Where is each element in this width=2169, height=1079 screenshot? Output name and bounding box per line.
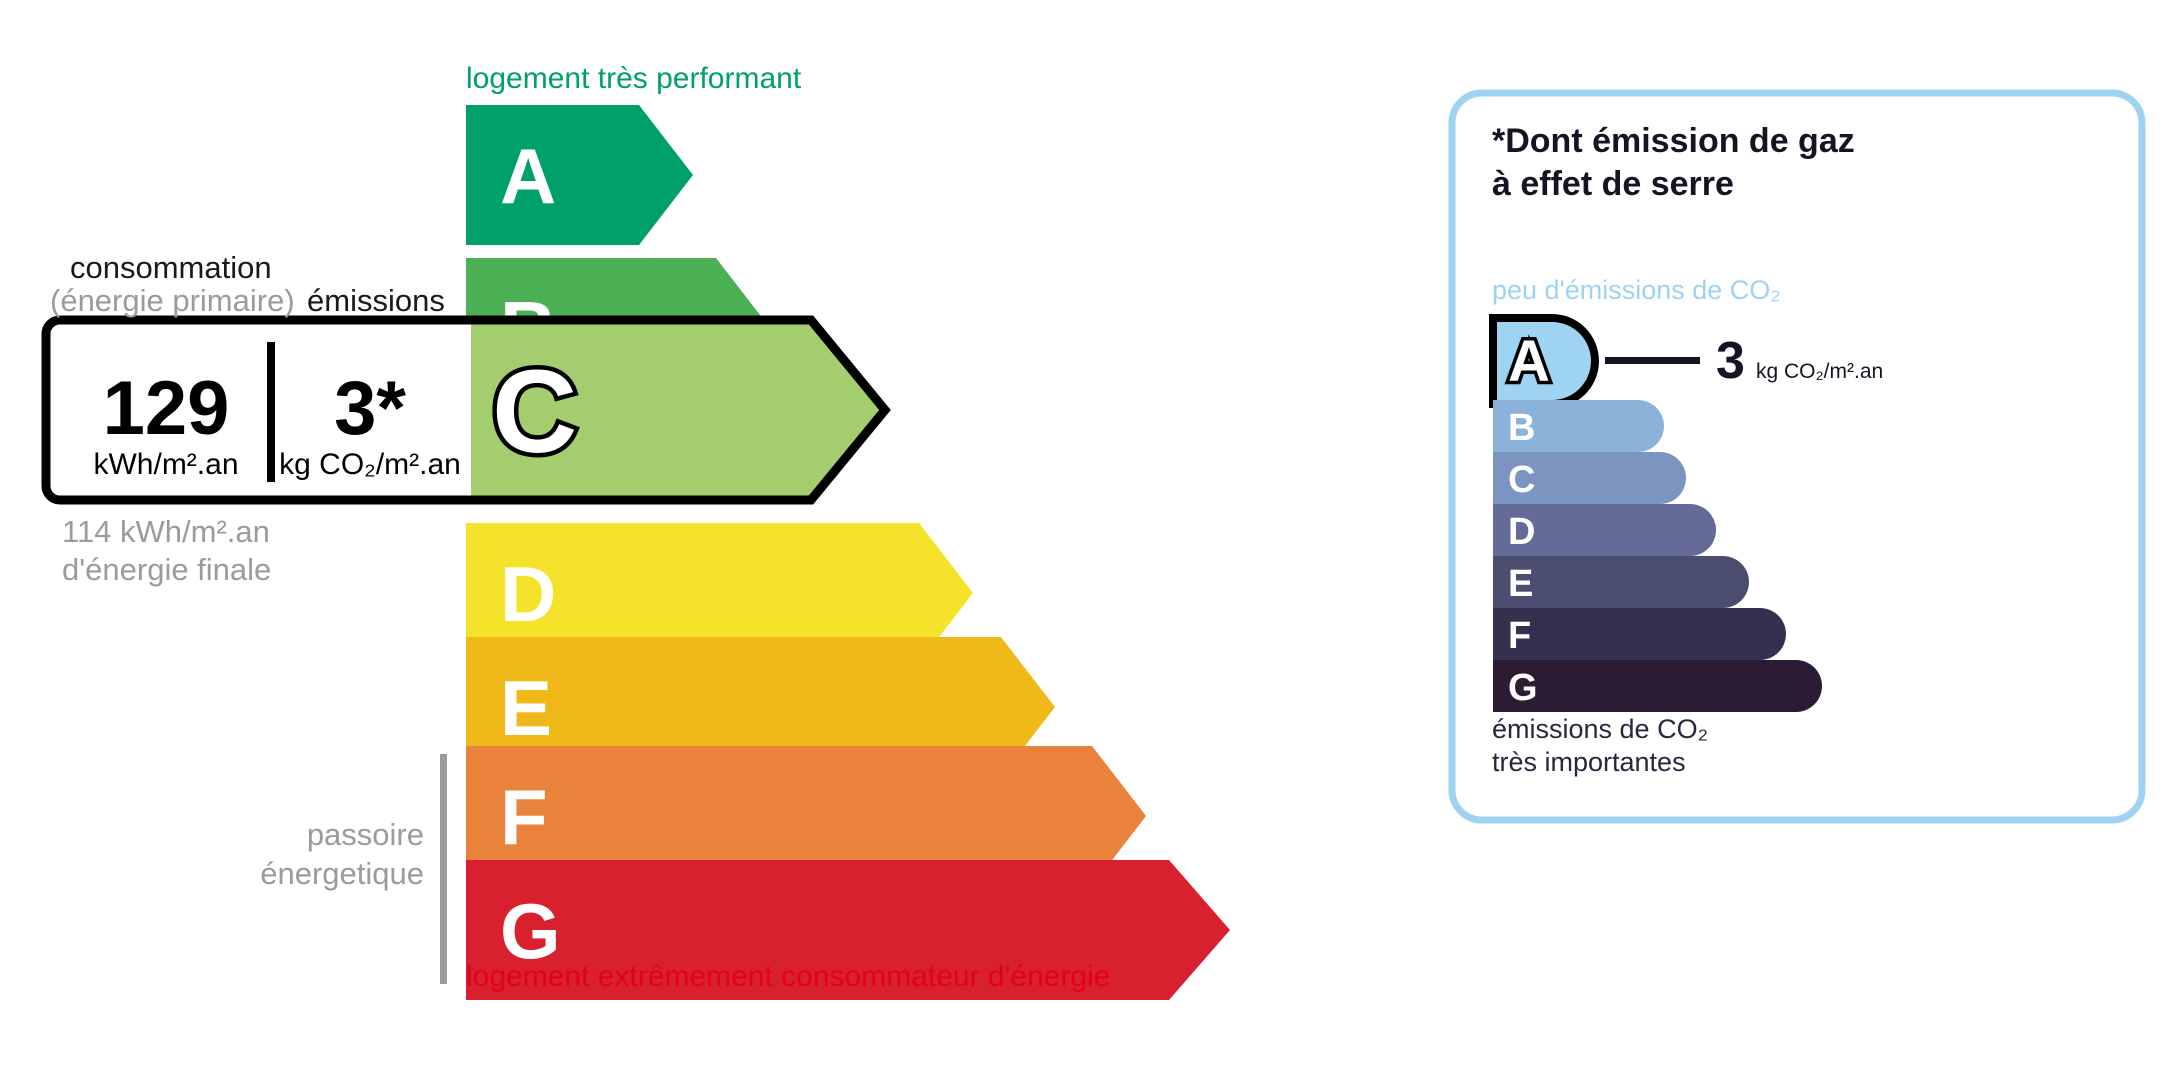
- emissions-unit: kg CO₂/m².an: [279, 448, 461, 481]
- consumption-label-line2: (énergie primaire): [50, 283, 295, 318]
- energy-top-annotation: logement très performant: [466, 62, 802, 95]
- ges-band-c-letter: C: [1508, 459, 1535, 501]
- passoire-bracket: [440, 754, 447, 984]
- consumption-value: 129: [103, 366, 230, 451]
- energy-band-a-letter: A: [500, 132, 556, 220]
- dpe-label: logement très performant A B C D E: [0, 0, 2169, 1079]
- ges-band-f-letter: F: [1508, 615, 1531, 657]
- ges-band-e-letter: E: [1508, 563, 1533, 605]
- final-energy-line2: d'énergie finale: [62, 552, 271, 587]
- ges-band-a[interactable]: A: [1493, 318, 1595, 404]
- final-energy-line1: 114 kWh/m².an: [62, 514, 270, 549]
- ges-bottom-annotation-line2: très importantes: [1492, 747, 1686, 777]
- ges-connector-line: [1605, 357, 1700, 364]
- ges-band-g-letter: G: [1508, 667, 1538, 709]
- ges-band-f-shape: [1493, 608, 1786, 660]
- energy-bottom-annotation: logement extrêmement consommateur d'éner…: [466, 960, 1110, 993]
- ges-bottom-annotation-line1: émissions de CO₂: [1492, 714, 1708, 744]
- ges-top-annotation: peu d'émissions de CO₂: [1492, 275, 1781, 305]
- ges-band-f[interactable]: F: [1493, 608, 1786, 660]
- ges-title-line1: *Dont émission de gaz: [1492, 122, 1855, 160]
- ges-title-line2: à effet de serre: [1492, 165, 1734, 203]
- consumption-unit: kWh/m².an: [93, 448, 238, 481]
- ges-value: 3: [1716, 332, 1745, 390]
- passoire-label-line1: passoire: [307, 817, 424, 852]
- ges-band-a-letter: A: [1508, 329, 1550, 394]
- readout-divider: [267, 342, 275, 482]
- dpe-canvas: logement très performant A B C D E: [0, 0, 2169, 1079]
- energy-band-e-letter: E: [500, 664, 552, 752]
- consumption-label-line1: consommation: [70, 250, 272, 285]
- energy-band-f-letter: F: [500, 773, 548, 861]
- ges-band-b[interactable]: B: [1493, 400, 1664, 452]
- energy-band-c-letter: C: [492, 346, 577, 478]
- ges-band-d[interactable]: D: [1493, 504, 1716, 556]
- ges-band-g[interactable]: G: [1493, 660, 1822, 712]
- ges-unit: kg CO₂/m².an: [1756, 360, 1883, 383]
- energy-band-c[interactable]: C: [466, 320, 885, 500]
- ges-band-e[interactable]: E: [1493, 556, 1749, 608]
- energy-band-d-letter: D: [500, 550, 556, 638]
- ges-band-c[interactable]: C: [1493, 452, 1686, 504]
- ges-band-g-shape: [1493, 660, 1822, 712]
- ges-band-d-letter: D: [1508, 511, 1535, 553]
- energy-band-a[interactable]: A: [466, 105, 693, 245]
- emissions-label: émissions: [307, 283, 445, 318]
- emissions-value: 3*: [334, 366, 406, 451]
- passoire-label-line2: énergetique: [260, 856, 424, 891]
- ges-band-b-letter: B: [1508, 407, 1535, 449]
